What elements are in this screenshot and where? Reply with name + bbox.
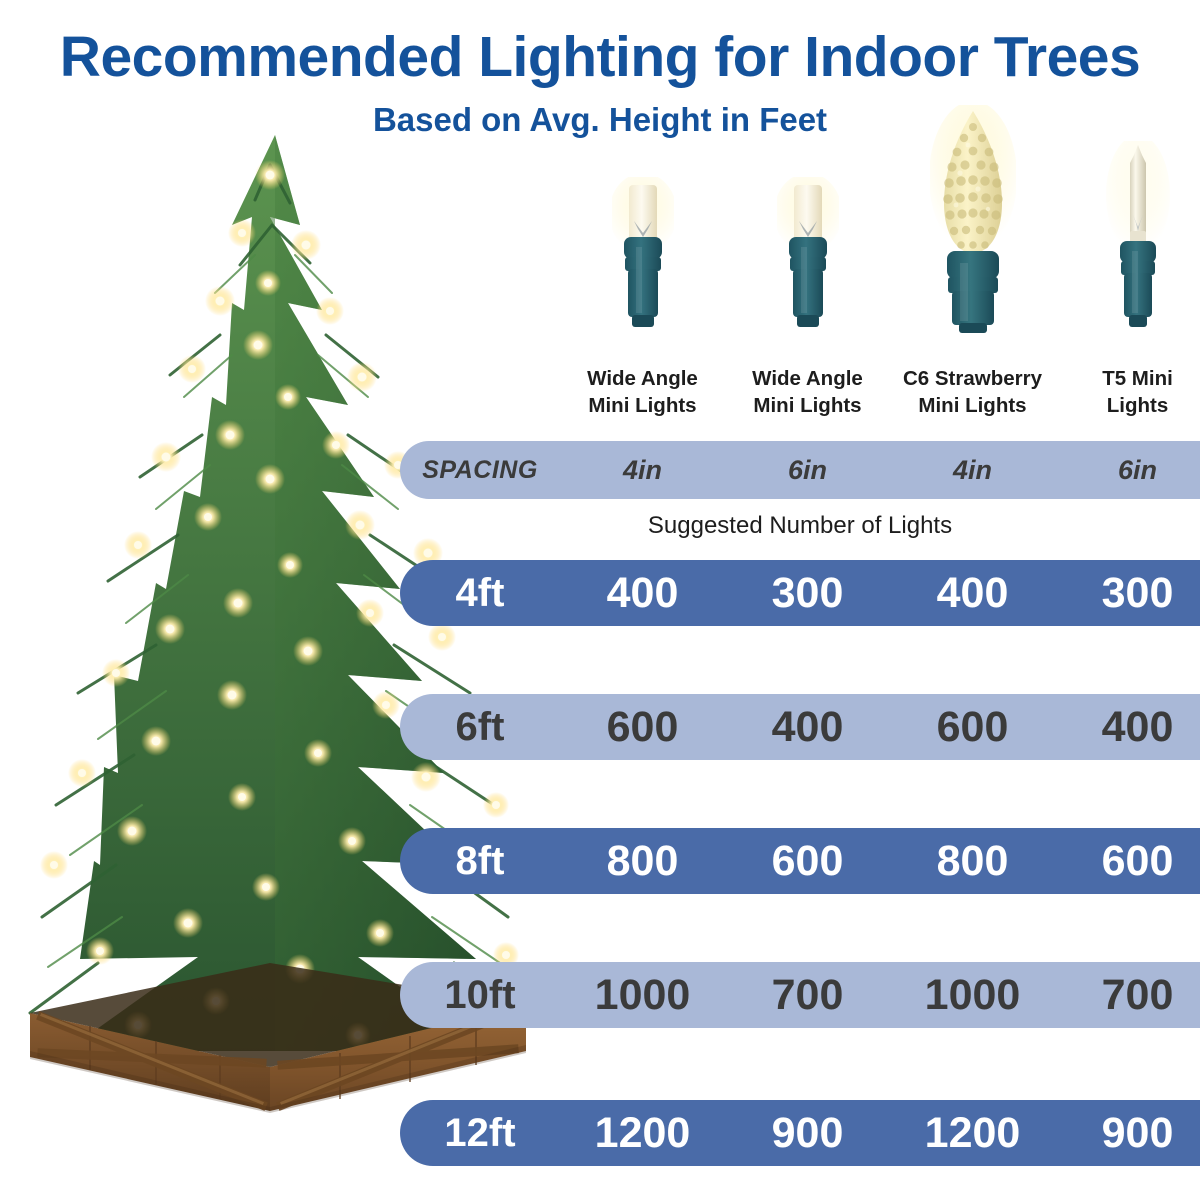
table-row: 10ft 1000 700 1000 700 xyxy=(400,962,1200,1028)
row-value-col4: 600 xyxy=(1055,837,1200,886)
table-row: 8ft 800 600 800 600 xyxy=(400,828,1200,894)
table-row: 4ft 400 300 400 300 xyxy=(400,560,1200,626)
row-value-col2: 300 xyxy=(725,569,890,618)
column-header-label: Wide Angle Mini Lights xyxy=(560,365,725,419)
row-value-col3: 600 xyxy=(890,703,1055,752)
wide-angle-bulb-icon xyxy=(777,177,839,337)
table-row: 12ft 1200 900 1200 900 xyxy=(400,1100,1200,1166)
column-label-line1: C6 Strawberry xyxy=(890,365,1055,392)
row-value-col1: 400 xyxy=(560,569,725,618)
row-value-col3: 400 xyxy=(890,569,1055,618)
row-value-col2: 700 xyxy=(725,971,890,1020)
column-header-wide-angle-4in: Wide Angle Mini Lights xyxy=(560,105,725,425)
row-height-label: 10ft xyxy=(400,973,560,1018)
column-header-c6-strawberry-4in: C6 Strawberry Mini Lights xyxy=(890,105,1055,425)
spacing-row-label: SPACING xyxy=(400,456,560,485)
row-value-col1: 1000 xyxy=(560,971,725,1020)
row-value-col4: 700 xyxy=(1055,971,1200,1020)
column-label-line2: Mini Lights xyxy=(560,392,725,419)
column-header-label: C6 Strawberry Mini Lights xyxy=(890,365,1055,419)
column-label-line2: Lights xyxy=(1055,392,1200,419)
spacing-value-col2: 6in xyxy=(725,455,890,486)
t5-mini-bulb-icon xyxy=(1106,141,1170,337)
column-header-label: Wide Angle Mini Lights xyxy=(725,365,890,419)
row-height-label: 4ft xyxy=(400,571,560,616)
row-value-col2: 600 xyxy=(725,837,890,886)
column-label-line2: Mini Lights xyxy=(725,392,890,419)
row-value-col3: 1200 xyxy=(890,1109,1055,1158)
column-label-line1: Wide Angle xyxy=(560,365,725,392)
row-value-col4: 400 xyxy=(1055,703,1200,752)
row-value-col1: 600 xyxy=(560,703,725,752)
column-header-t5-mini-6in: T5 Mini Lights xyxy=(1055,105,1200,425)
row-value-col1: 800 xyxy=(560,837,725,886)
row-value-col2: 400 xyxy=(725,703,890,752)
column-header-label: T5 Mini Lights xyxy=(1055,365,1200,419)
row-value-col2: 900 xyxy=(725,1109,890,1158)
row-height-label: 12ft xyxy=(400,1111,560,1156)
table-row: 6ft 600 400 600 400 xyxy=(400,694,1200,760)
row-value-col3: 800 xyxy=(890,837,1055,886)
row-value-col1: 1200 xyxy=(560,1109,725,1158)
infographic-canvas: Recommended Lighting for Indoor Trees Ba… xyxy=(0,0,1200,1200)
column-label-line1: Wide Angle xyxy=(725,365,890,392)
spacing-value-col3: 4in xyxy=(890,455,1055,486)
row-value-col3: 1000 xyxy=(890,971,1055,1020)
wide-angle-bulb-icon xyxy=(612,177,674,337)
row-height-label: 6ft xyxy=(400,705,560,750)
row-value-col4: 300 xyxy=(1055,569,1200,618)
row-value-col4: 900 xyxy=(1055,1109,1200,1158)
bulb-column-headers: Wide Angle Mini Lights xyxy=(560,105,1200,425)
column-header-wide-angle-6in: Wide Angle Mini Lights xyxy=(725,105,890,425)
row-height-label: 8ft xyxy=(400,839,560,884)
spacing-value-col1: 4in xyxy=(560,455,725,486)
table-row-spacing: SPACING 4in 6in 4in 6in xyxy=(400,441,1200,499)
page-title: Recommended Lighting for Indoor Trees xyxy=(0,0,1200,88)
column-label-line1: T5 Mini xyxy=(1055,365,1200,392)
spacing-value-col4: 6in xyxy=(1055,455,1200,486)
column-label-line2: Mini Lights xyxy=(890,392,1055,419)
c6-strawberry-bulb-icon xyxy=(930,105,1016,337)
